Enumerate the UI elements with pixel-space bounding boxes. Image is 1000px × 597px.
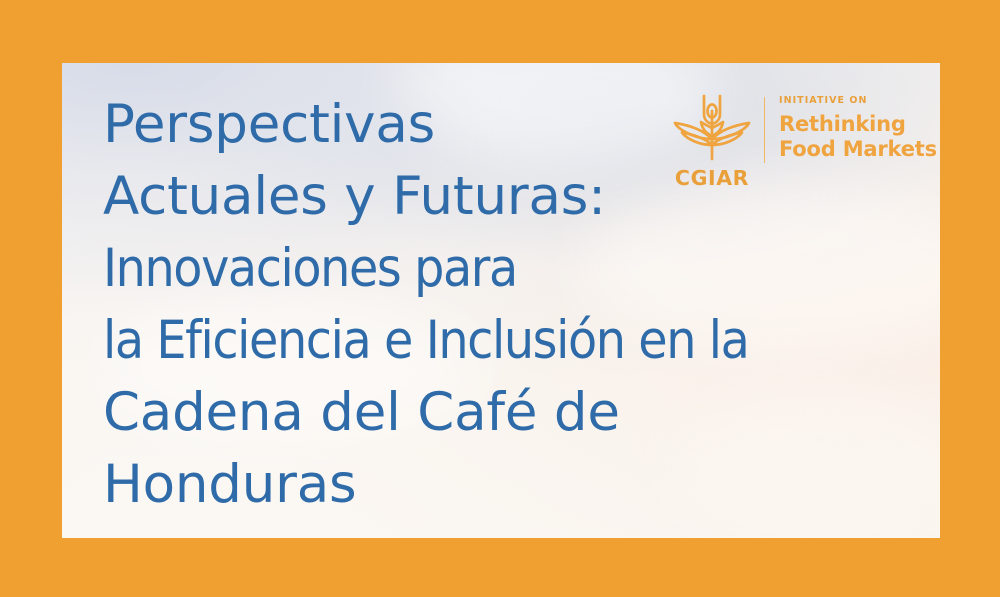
cgiar-wordmark: CGIAR — [675, 168, 749, 189]
title-line-5: Cadena del Café de — [103, 377, 913, 449]
initiative-eyebrow: INITIATIVE ON — [779, 96, 937, 106]
cgiar-logo-mark: CGIAR — [666, 91, 758, 189]
initiative-name-line-1: Rethinking — [779, 112, 937, 137]
title-line-3: Innovaciones para — [103, 233, 913, 305]
slide-canvas: Perspectivas Actuales y Futuras: Innovac… — [0, 0, 1000, 597]
content-card: Perspectivas Actuales y Futuras: Innovac… — [62, 63, 940, 538]
logo-divider — [764, 97, 765, 163]
title-line-6: Honduras — [103, 449, 913, 521]
initiative-name-line-2: Food Markets — [779, 137, 937, 162]
initiative-lockup-text: INITIATIVE ON Rethinking Food Markets — [779, 91, 937, 162]
cgiar-wheat-emblem-icon — [673, 91, 751, 166]
title-line-4: la Eficiencia e Inclusión en la — [103, 305, 913, 377]
cgiar-initiative-logo: CGIAR INITIATIVE ON Rethinking Food Mark… — [666, 91, 937, 189]
